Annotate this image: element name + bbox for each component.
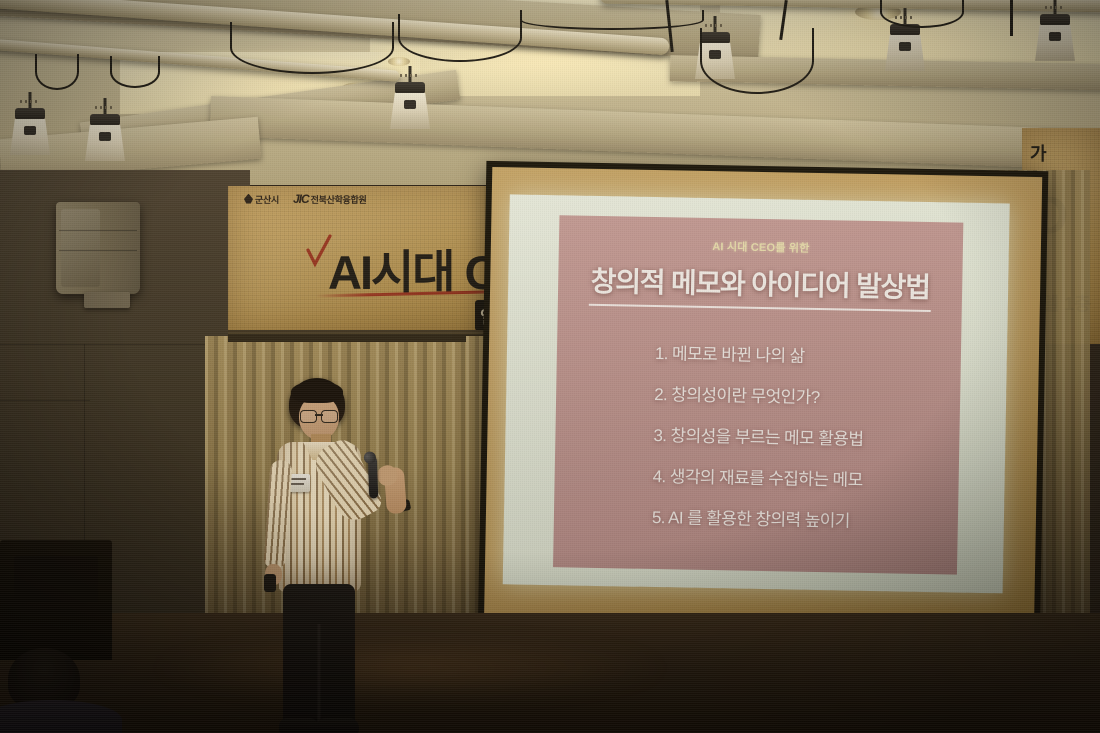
eyeglasses (300, 410, 338, 421)
presentation-remote (264, 574, 276, 592)
speaker-hair-fringe (291, 381, 343, 403)
speaker-person (255, 378, 375, 733)
speaker-trousers (283, 584, 355, 724)
light-cable-2 (110, 56, 160, 88)
light-cable-3 (230, 22, 394, 74)
pa-speaker-bracket (84, 292, 130, 308)
list-item: 2. 창의성이란 무엇인가? (654, 380, 940, 410)
slide-title: 창의적 메모와 아이디어 발상법 (558, 259, 963, 306)
screen-surface: AI 시대 CEO를 위한 창의적 메모와 아이디어 발상법 1. 메모로 바뀐… (484, 167, 1042, 635)
slide-agenda-list: 1. 메모로 바뀐 나의 삶 2. 창의성이란 무엇인가? 3. 창의성을 부르… (611, 338, 941, 549)
banner-right-top-text: 가 (1030, 140, 1047, 166)
wall-seam-2 (0, 400, 90, 401)
light-cable-10 (1010, 0, 1013, 36)
floor-reflection (150, 633, 670, 703)
light-cable-4 (398, 14, 522, 62)
jic-logo: JIC전북산학융합원 (293, 192, 367, 206)
presentation-slide: AI 시대 CEO를 위한 창의적 메모와 아이디어 발상법 1. 메모로 바뀐… (553, 215, 963, 574)
light-cable-7 (700, 28, 814, 94)
photo-scene: 군산시 JIC전북산학융합원 AI시대 CE 일 가 O 호텔 1층 AI 시대… (0, 0, 1100, 733)
list-item: 3. 창의성을 부르는 메모 활용법 (653, 421, 939, 451)
slide-eyebrow: AI 시대 CEO를 위한 (559, 235, 963, 258)
recessed-downlight-3 (388, 57, 410, 66)
light-cable-5 (520, 10, 704, 30)
list-item: 1. 메모로 바뀐 나의 삶 (655, 339, 941, 369)
banner-logo-row: 군산시 JIC전북산학융합원 (244, 192, 367, 206)
list-item: 4. 생각의 재료를 수집하는 메모 (652, 462, 938, 492)
projected-light-area: AI 시대 CEO를 위한 창의적 메모와 아이디어 발상법 1. 메모로 바뀐… (503, 194, 1010, 593)
gunsan-city-logo: 군산시 (244, 193, 279, 206)
projection-screen: AI 시대 CEO를 위한 창의적 메모와 아이디어 발상법 1. 메모로 바뀐… (478, 161, 1049, 649)
podium-top (14, 556, 98, 602)
pa-speaker (56, 202, 140, 294)
list-item: 5. AI 를 활용한 창의력 높이기 (652, 503, 938, 533)
speaker-shoe-right (317, 718, 359, 733)
speaker-shoe-left (279, 718, 319, 733)
light-cable-1 (35, 54, 79, 90)
